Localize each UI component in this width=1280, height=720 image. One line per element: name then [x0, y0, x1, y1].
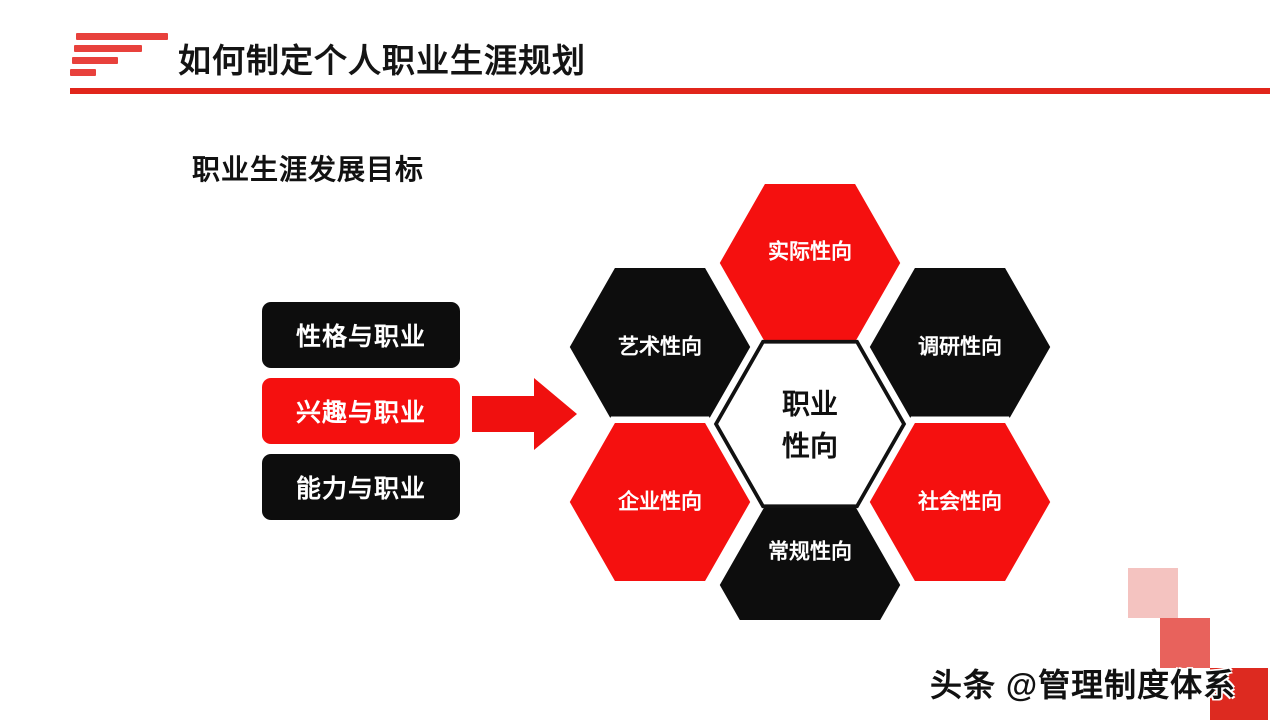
brand-mark-icon — [70, 33, 168, 79]
career-orientation-hex-diagram: 艺术性向 企业性向 调研性向 社会性向 实际性向 常规性向 — [545, 165, 1075, 620]
option-button-interest[interactable]: 兴趣与职业 — [262, 378, 460, 444]
brand-bar-4 — [70, 69, 96, 76]
hex-label-enterprising: 企业性向 — [617, 490, 702, 514]
option-button-personality[interactable]: 性格与职业 — [262, 302, 460, 368]
decor-square-light — [1128, 568, 1178, 618]
title-divider — [70, 88, 1270, 94]
hex-label-investigative: 调研性向 — [918, 335, 1002, 359]
brand-bar-3 — [72, 57, 118, 64]
hex-label-social: 社会性向 — [917, 490, 1002, 514]
watermark-text: 头条 @管理制度体系 — [930, 660, 1236, 706]
option-list: 性格与职业 兴趣与职业 能力与职业 — [262, 302, 460, 530]
section-subtitle: 职业生涯发展目标 — [192, 148, 424, 188]
page-title: 如何制定个人职业生涯规划 — [178, 34, 586, 82]
option-button-ability[interactable]: 能力与职业 — [262, 454, 460, 520]
hex-label-artistic: 艺术性向 — [618, 335, 702, 359]
hex-label-practical: 实际性向 — [768, 240, 852, 264]
hex-label-conventional: 常规性向 — [768, 540, 852, 564]
hex-label-center-line2: 性向 — [782, 430, 838, 461]
brand-bar-2 — [74, 45, 142, 52]
brand-bar-1 — [76, 33, 168, 40]
hex-node-practical[interactable]: 实际性向 — [716, 181, 904, 346]
hex-label-center-line1: 职业 — [782, 388, 838, 419]
slide-header: 如何制定个人职业生涯规划 — [0, 0, 1280, 100]
